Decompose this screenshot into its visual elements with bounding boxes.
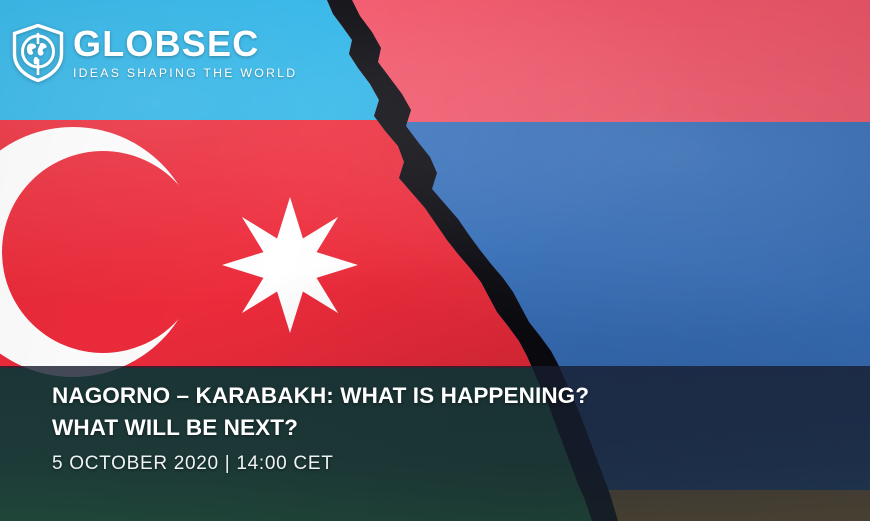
brand-tagline: IDEAS SHAPING THE WORLD [73, 65, 297, 81]
logo-text-block: GLOBSEC IDEAS SHAPING THE WORLD [73, 26, 297, 81]
event-title-line-2: WHAT WILL BE NEXT? [52, 412, 822, 444]
globsec-logo[interactable]: GLOBSEC IDEAS SHAPING THE WORLD [12, 24, 297, 82]
caption-block: NAGORNO – KARABAKH: WHAT IS HAPPENING? W… [52, 380, 822, 475]
globe-shield-icon [12, 24, 64, 82]
eight-pointed-star-emblem [222, 197, 358, 333]
event-datetime: 5 OCTOBER 2020 | 14:00 CET [52, 453, 822, 475]
brand-wordmark: GLOBSEC [73, 26, 297, 62]
event-title-line-1: NAGORNO – KARABAKH: WHAT IS HAPPENING? [52, 380, 822, 412]
promo-banner: NAGORNO – KARABAKH: WHAT IS HAPPENING? W… [0, 0, 870, 521]
